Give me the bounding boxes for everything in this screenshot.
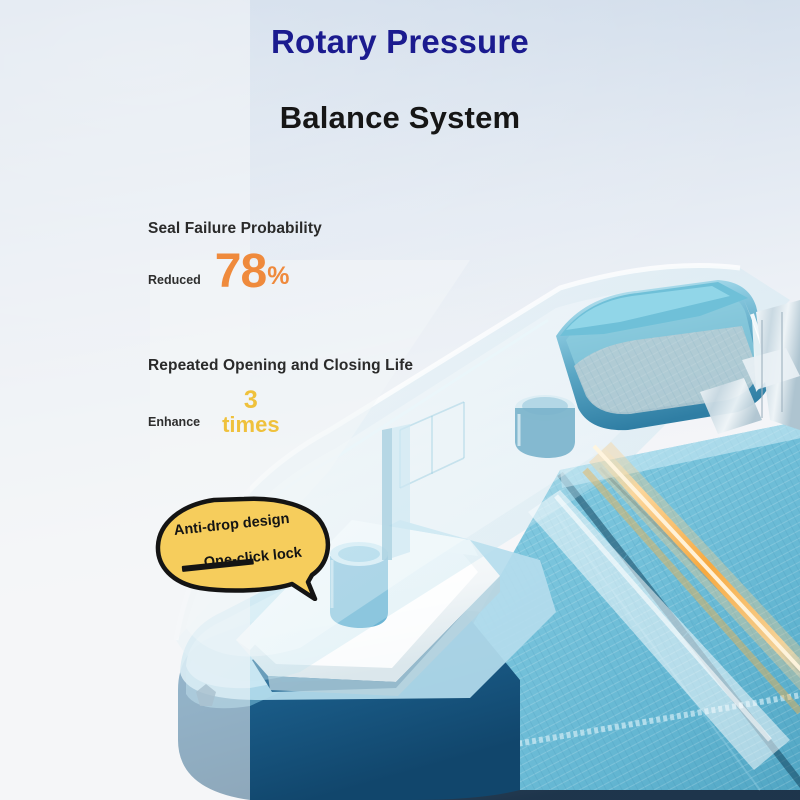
page-header: Rotary Pressure Balance System xyxy=(0,0,800,136)
callout-bubble-shape xyxy=(152,496,342,601)
stat-open-close-life-value-row: Enhance 3 times xyxy=(148,387,413,436)
stat-open-close-life-heading: Repeated Opening and Closing Life xyxy=(148,357,413,375)
stat-open-close-life-value-stack: 3 times xyxy=(222,387,279,436)
stat-seal-failure-unit: % xyxy=(267,264,289,294)
stat-open-close-life-value: 3 xyxy=(244,387,258,413)
stat-open-close-life-prefix: Enhance xyxy=(148,415,200,436)
stat-seal-failure: Seal Failure Probability Reduced 78 % xyxy=(148,220,322,294)
callout-bubble: Anti-drop design One-click lock xyxy=(152,496,342,601)
stat-seal-failure-prefix: Reduced xyxy=(148,273,201,294)
page-title-line-1: Rotary Pressure xyxy=(0,22,800,62)
stat-seal-failure-heading: Seal Failure Probability xyxy=(148,220,322,238)
stat-open-close-life-unit: times xyxy=(222,413,279,436)
page-title-line-2: Balance System xyxy=(0,99,800,136)
stat-open-close-life: Repeated Opening and Closing Life Enhanc… xyxy=(148,357,413,436)
stat-seal-failure-value: 78 xyxy=(215,250,266,294)
stat-seal-failure-value-row: Reduced 78 % xyxy=(148,250,322,294)
